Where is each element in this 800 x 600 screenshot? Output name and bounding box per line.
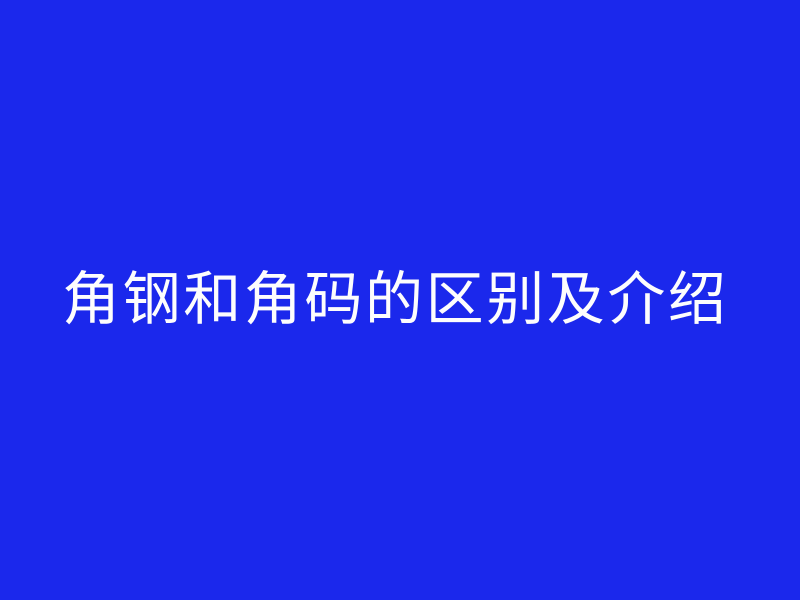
title-slide: 角钢和角码的区别及介绍 — [0, 0, 800, 600]
page-title: 角钢和角码的区别及介绍 — [62, 271, 729, 329]
title-block: 角钢和角码的区别及介绍 — [0, 0, 800, 600]
